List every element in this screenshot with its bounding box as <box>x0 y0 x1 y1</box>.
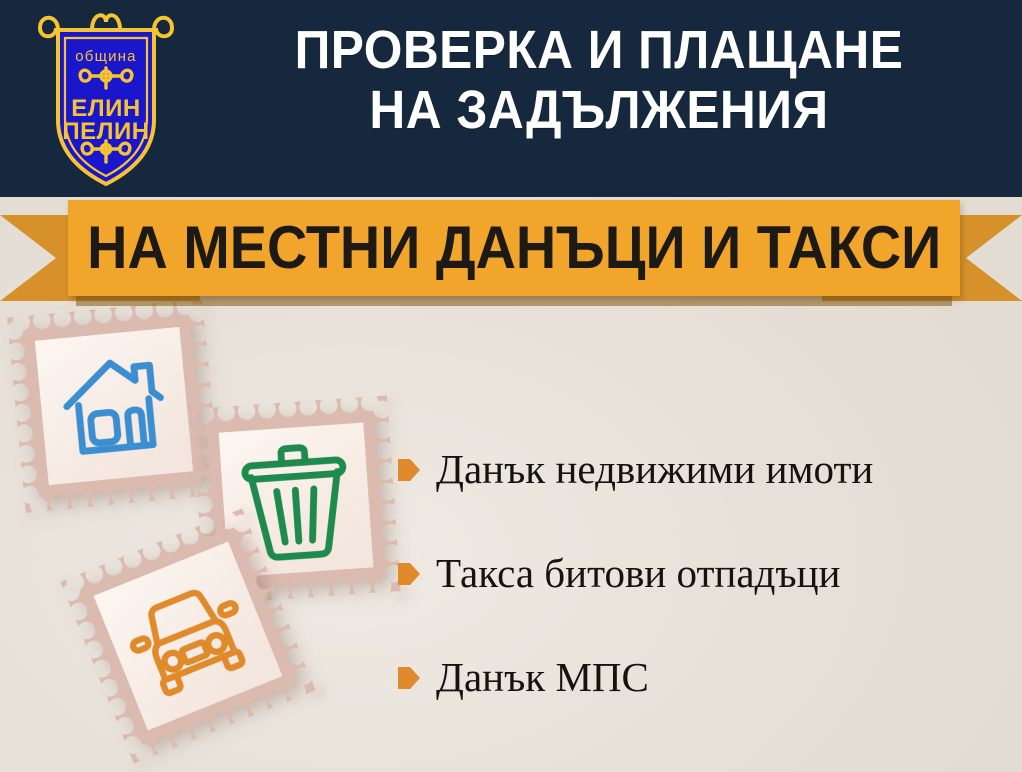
municipality-crest: община ЕЛИН ПЕЛИН <box>32 8 180 190</box>
list-item[interactable]: Данък недвижими имоти <box>398 418 1018 522</box>
list-item-label: Данък МПС <box>436 656 649 699</box>
list-item[interactable]: Такса битови отпадъци <box>398 522 1018 626</box>
arrow-right-marker-icon <box>398 457 420 483</box>
ribbon-panel: НА МЕСТНИ ДАНЪЦИ И ТАКСИ <box>68 200 960 296</box>
arrow-right-marker-icon <box>398 561 420 587</box>
ribbon-text: НА МЕСТНИ ДАНЪЦИ И ТАКСИ <box>87 218 941 278</box>
list-item-label: Данък недвижими имоти <box>436 448 873 491</box>
stamp-card-group <box>0 300 430 772</box>
tax-type-list: Данък недвижими имоти Такса битови отпад… <box>398 418 1018 730</box>
arrow-right-marker-icon <box>398 665 420 691</box>
title-line-1: ПРОВЕРКА И ПЛАЩАНЕ <box>219 20 979 80</box>
coat-of-arms-shield-icon: община ЕЛИН ПЕЛИН <box>32 8 180 190</box>
title-line-2: НА ЗАДЪЛЖЕНИЯ <box>219 80 979 140</box>
svg-text:ПЕЛИН: ПЕЛИН <box>62 118 149 145</box>
list-item-label: Такса битови отпадъци <box>436 552 840 595</box>
list-item[interactable]: Данък МПС <box>398 626 1018 730</box>
stamp-paper <box>35 327 193 485</box>
poster-canvas: община ЕЛИН ПЕЛИН ПРОВЕРКА И ПЛАЩАНЕ НА … <box>0 0 1022 772</box>
poster-title: ПРОВЕРКА И ПЛАЩАНЕ НА ЗАДЪЛЖЕНИЯ <box>186 20 1012 141</box>
stamp-card-property <box>7 299 221 513</box>
subtitle-ribbon: НА МЕСТНИ ДАНЪЦИ И ТАКСИ <box>0 196 1022 306</box>
header-bar: община ЕЛИН ПЕЛИН ПРОВЕРКА И ПЛАЩАНЕ НА … <box>0 0 1022 197</box>
svg-text:община: община <box>75 48 136 65</box>
